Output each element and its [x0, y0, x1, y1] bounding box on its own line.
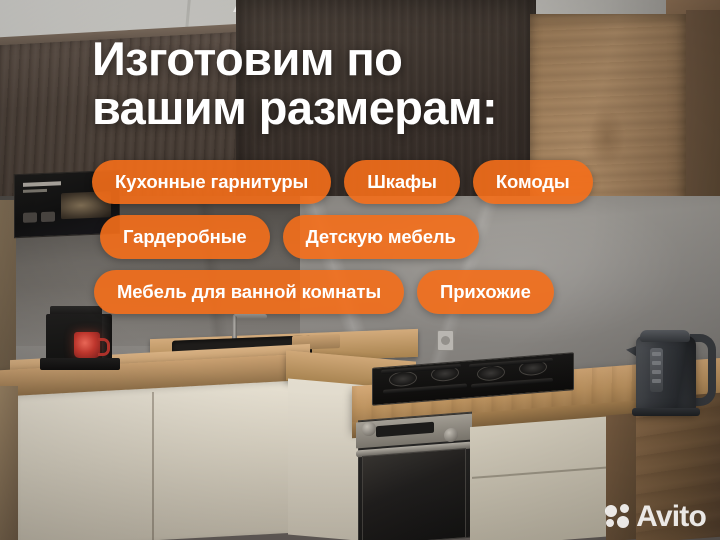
category-chip-dressers[interactable]: Комоды	[473, 160, 593, 204]
promo-overlay: Изготовим по вашим размерам: Кухонные га…	[0, 0, 720, 540]
category-chip-hallways[interactable]: Прихожие	[417, 270, 554, 314]
category-chip-row-1: Кухонные гарнитуры Шкафы Комоды	[92, 160, 652, 204]
avito-watermark: Avito	[605, 502, 706, 532]
category-chip-row-3: Мебель для ванной комнаты Прихожие	[92, 270, 652, 314]
category-chip-row-2: Гардеробные Детскую мебель	[92, 215, 652, 259]
category-chip-walk-in-closets[interactable]: Гардеробные	[100, 215, 270, 259]
category-chip-list: Кухонные гарнитуры Шкафы Комоды Гардероб…	[92, 160, 652, 325]
category-chip-bathroom-furniture[interactable]: Мебель для ванной комнаты	[94, 270, 404, 314]
category-chip-kitchen-sets[interactable]: Кухонные гарнитуры	[92, 160, 331, 204]
avito-dots-logo-icon	[605, 504, 631, 530]
category-chip-kids-furniture[interactable]: Детскую мебель	[283, 215, 479, 259]
avito-wordmark: Avito	[636, 502, 706, 532]
page-title: Изготовим по вашим размерам:	[92, 34, 652, 132]
category-chip-wardrobes[interactable]: Шкафы	[344, 160, 460, 204]
listing-image: Изготовим по вашим размерам: Кухонные га…	[0, 0, 720, 540]
